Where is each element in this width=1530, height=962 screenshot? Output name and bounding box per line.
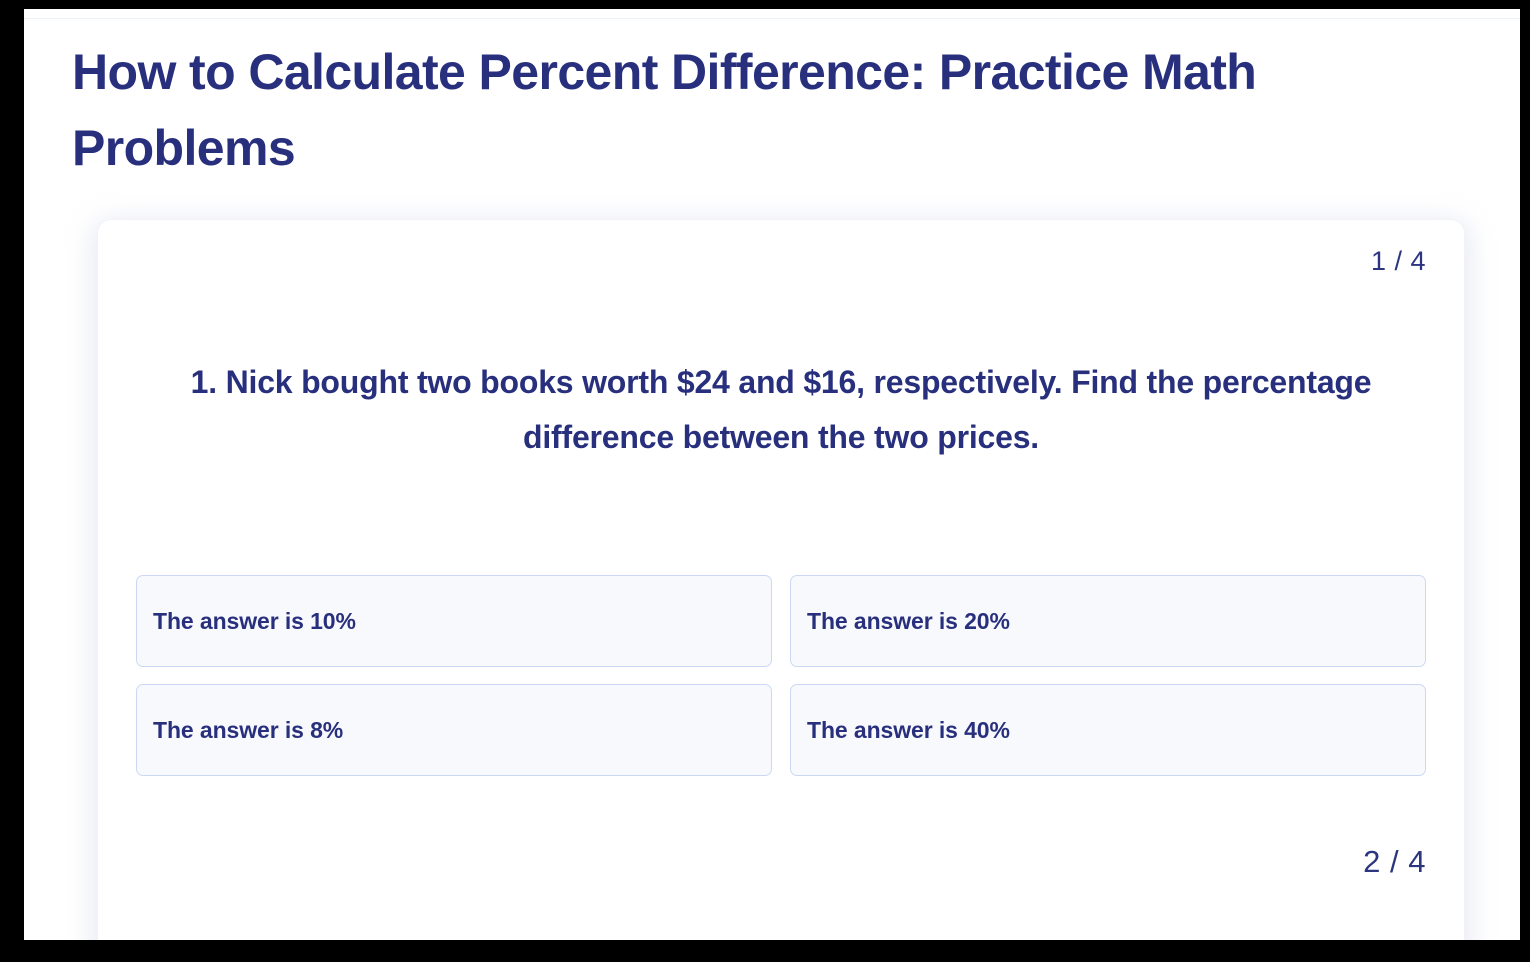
answer-option-1[interactable]: The answer is 10% <box>136 575 772 667</box>
answer-options-grid: The answer is 10% The answer is 20% The … <box>132 575 1430 776</box>
quiz-counter-top: 1 / 4 <box>1371 246 1430 277</box>
screenshot-frame: How to Calculate Percent Difference: Pra… <box>0 0 1530 962</box>
question-text: 1. Nick bought two books worth $24 and $… <box>164 355 1398 465</box>
page-content: How to Calculate Percent Difference: Pra… <box>24 9 1520 940</box>
answer-option-4[interactable]: The answer is 40% <box>790 684 1426 776</box>
page-viewport: How to Calculate Percent Difference: Pra… <box>24 9 1520 940</box>
quiz-card: 1 / 4 1. Nick bought two books worth $24… <box>98 220 1464 940</box>
page-title: How to Calculate Percent Difference: Pra… <box>72 34 1482 186</box>
answer-option-label: The answer is 10% <box>153 608 356 635</box>
question-block: 1. Nick bought two books worth $24 and $… <box>132 355 1430 465</box>
quiz-counter-bottom-row: 2 / 4 <box>132 844 1430 880</box>
answer-option-2[interactable]: The answer is 20% <box>790 575 1426 667</box>
answer-option-label: The answer is 40% <box>807 717 1010 744</box>
quiz-counter-bottom: 2 / 4 <box>1363 844 1430 880</box>
quiz-counter-top-row: 1 / 4 <box>132 246 1430 277</box>
answer-option-3[interactable]: The answer is 8% <box>136 684 772 776</box>
answer-option-label: The answer is 8% <box>153 717 343 744</box>
answer-option-label: The answer is 20% <box>807 608 1010 635</box>
